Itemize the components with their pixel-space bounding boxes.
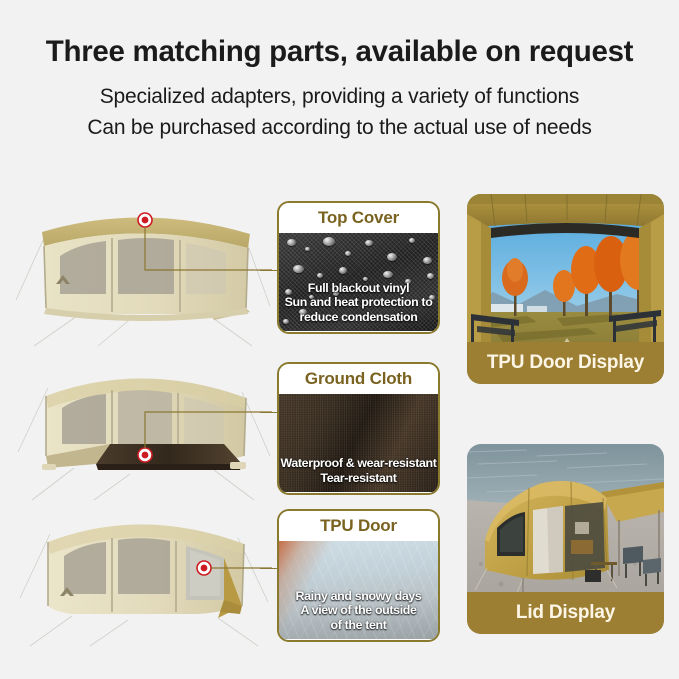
photo-lid-display[interactable]: Lid Display [467,444,664,634]
page-subtitle: Specialized adapters, providing a variet… [0,82,679,143]
card-body-ground-cloth: Waterproof & wear-resistant Tear-resista… [279,394,438,492]
card-title-top-cover: Top Cover [279,203,438,233]
caption-line: Tear-resistant [279,471,438,485]
caption-line: A view of the outside [279,603,438,617]
feature-card-ground-cloth[interactable]: Ground Cloth Waterproof & wear-resistant… [277,362,440,495]
photo-label-lid-display: Lid Display [467,592,664,634]
header: Three matching parts, available on reque… [0,0,679,143]
photo-label-tpu-door-display: TPU Door Display [467,342,664,384]
card-caption-ground-cloth: Waterproof & wear-resistant Tear-resista… [279,456,438,492]
caption-line: Sun and heat protection to [279,295,438,309]
caption-line: of the tent [279,618,438,632]
card-caption-tpu-door: Rainy and snowy days A view of the outsi… [279,589,438,639]
page-title: Three matching parts, available on reque… [0,36,679,68]
feature-card-tpu-door[interactable]: TPU Door Rainy and snowy days A view of … [277,509,440,642]
card-body-top-cover: Full blackout vinyl Sun and heat protect… [279,233,438,331]
caption-line: Waterproof & wear-resistant [279,456,438,470]
tent-illustration-tpu-door [14,500,272,650]
caption-line: Full blackout vinyl [279,281,438,295]
subtitle-line-1: Specialized adapters, providing a variet… [0,82,679,112]
card-body-tpu-door: Rainy and snowy days A view of the outsi… [279,541,438,639]
card-caption-top-cover: Full blackout vinyl Sun and heat protect… [279,281,438,331]
tent-illustration-top-cover [14,196,272,348]
card-title-ground-cloth: Ground Cloth [279,364,438,394]
caption-line: Rainy and snowy days [279,589,438,603]
feature-card-top-cover[interactable]: Top Cover [277,201,440,334]
marker-tpu-door [197,561,211,575]
marker-ground-cloth [138,448,152,462]
caption-line: reduce condensation [279,310,438,324]
photo-tpu-door-display[interactable]: TPU Door Display [467,194,664,384]
infographic-page: Three matching parts, available on reque… [0,0,679,679]
tent-illustration-ground-cloth [14,352,272,502]
card-title-tpu-door: TPU Door [279,511,438,541]
subtitle-line-2: Can be purchased according to the actual… [0,113,679,143]
marker-top-cover [138,213,152,227]
